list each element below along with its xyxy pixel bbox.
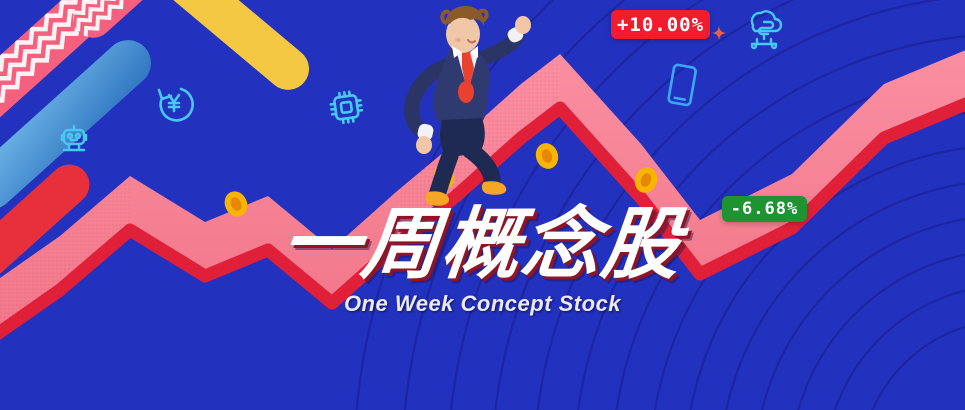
cloud-computing-icon bbox=[752, 11, 781, 48]
loss-badge: -6.68% bbox=[722, 196, 807, 222]
sparkle-icon bbox=[712, 26, 726, 40]
smartphone-icon bbox=[668, 64, 696, 105]
tech-icons-group bbox=[0, 0, 965, 410]
robot-icon bbox=[62, 126, 86, 150]
cpu-chip-icon bbox=[329, 90, 363, 124]
gain-badge: +10.00% bbox=[611, 10, 710, 39]
yen-refresh-icon bbox=[159, 89, 193, 120]
weekly-concept-stock-banner: +10.00% -6.68% 一周概念股 One Week Concept St… bbox=[0, 0, 965, 410]
